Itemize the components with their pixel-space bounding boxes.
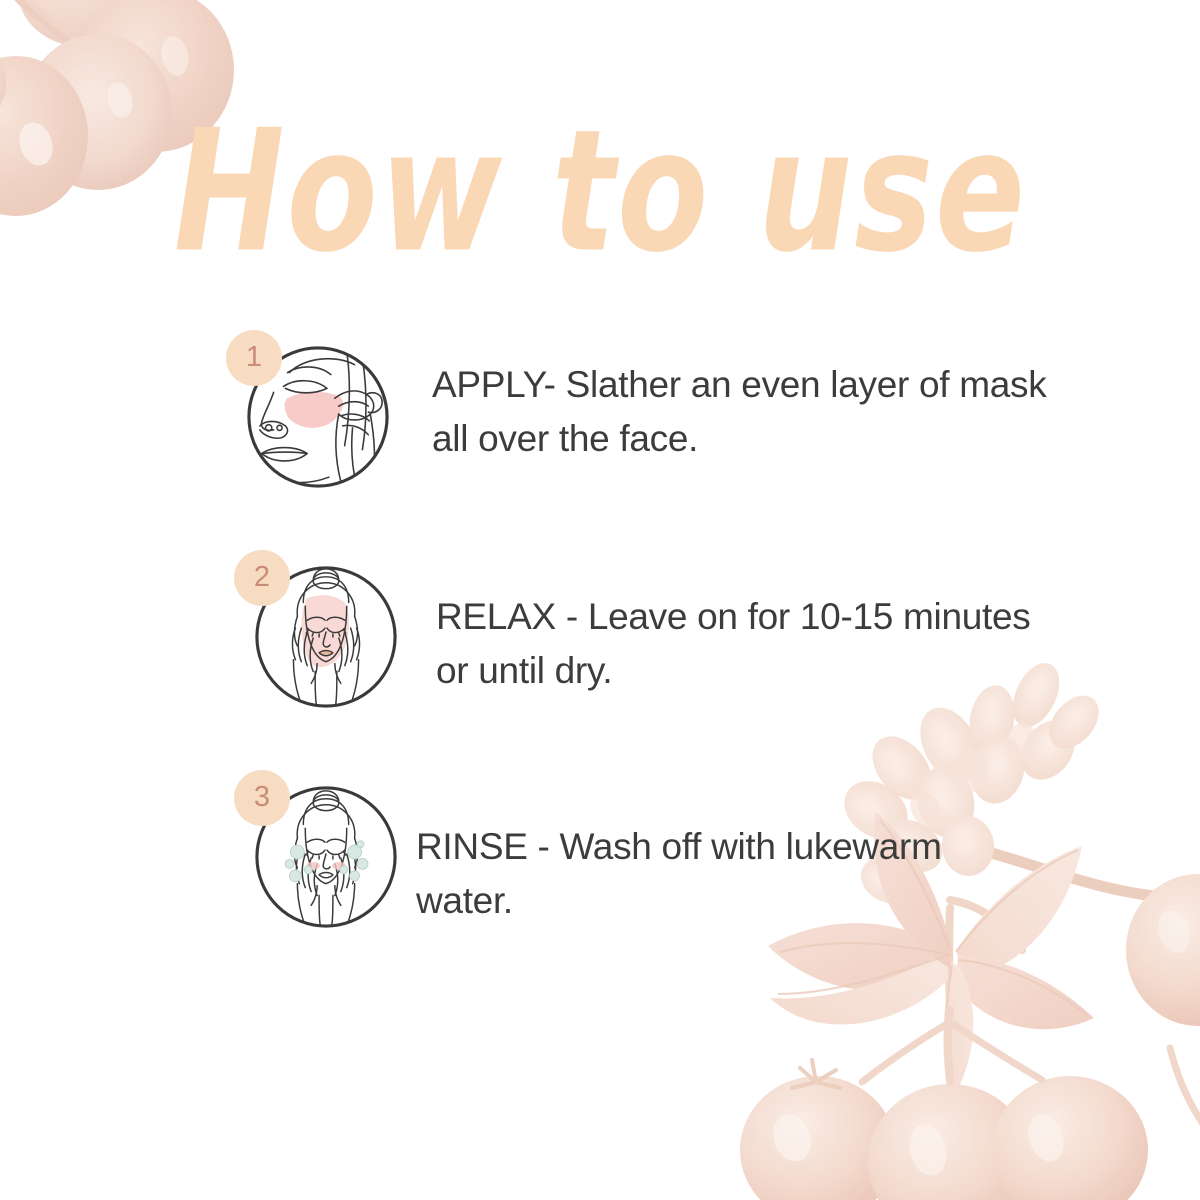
step-badge-1: 1 xyxy=(226,330,282,386)
step-1-icon-group: 1 xyxy=(226,330,401,505)
step-badge-number: 1 xyxy=(246,343,262,374)
page-title-text: How to use xyxy=(173,108,1026,276)
step-item: 1 APPLY- Slather an even layer of mask a… xyxy=(0,330,1200,550)
step-item: 3 RINSE - Wash off with lukewarm water. xyxy=(0,770,1200,990)
step-2-icon-group: 2 xyxy=(234,550,409,725)
step-item: 2 RELAX - Leave on for 10-15 minutes or … xyxy=(0,550,1200,770)
steps-list: 1 APPLY- Slather an even layer of mask a… xyxy=(0,330,1200,990)
how-to-use-infographic: How to use xyxy=(0,0,1200,1200)
page-title: How to use xyxy=(0,108,1200,246)
step-badge-3: 3 xyxy=(234,770,290,826)
step-badge-number: 2 xyxy=(254,563,270,594)
step-1-text: APPLY- Slather an even layer of mask all… xyxy=(432,358,1052,465)
step-badge-2: 2 xyxy=(234,550,290,606)
step-3-text: RINSE - Wash off with lukewarm water. xyxy=(416,820,1036,927)
step-3-icon-group: 3 xyxy=(234,770,409,945)
step-badge-number: 3 xyxy=(254,783,270,814)
step-2-text: RELAX - Leave on for 10-15 minutes or un… xyxy=(436,590,1056,697)
